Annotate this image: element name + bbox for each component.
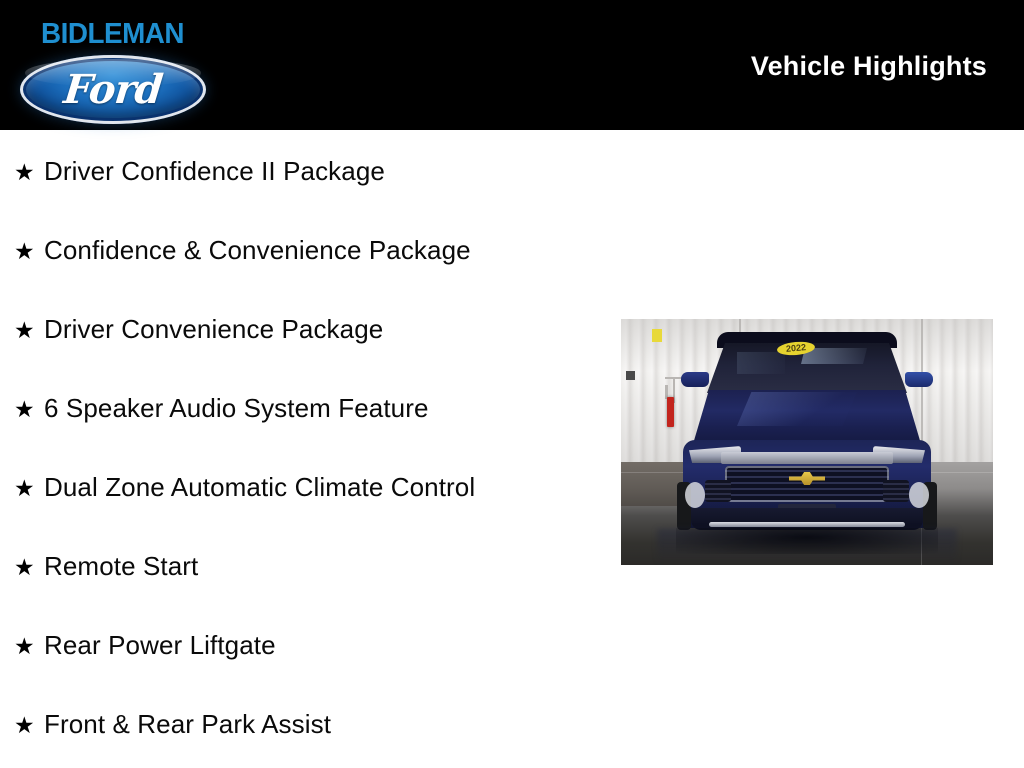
list-item: ★ Driver Convenience Package — [0, 316, 600, 395]
list-item: ★ Dual Zone Automatic Climate Control — [0, 474, 600, 553]
highlight-label: Driver Convenience Package — [44, 316, 383, 342]
side-mirror-right — [905, 372, 933, 387]
fog-lamp-right — [909, 482, 929, 508]
star-bullet-icon: ★ — [14, 161, 44, 184]
fog-lamp-left — [685, 482, 705, 508]
bumper-vent-left — [705, 480, 731, 502]
side-mirror-left — [681, 372, 709, 387]
fire-extinguisher-icon — [667, 397, 674, 427]
ford-wordmark: Ford — [62, 66, 165, 113]
list-item: ★ Front & Rear Park Assist — [0, 711, 600, 768]
star-bullet-icon: ★ — [14, 635, 44, 658]
list-item: ★ Driver Confidence II Package — [0, 158, 600, 237]
list-item: ★ Remote Start — [0, 553, 600, 632]
star-bullet-icon: ★ — [14, 319, 44, 342]
ford-oval-logo-icon: Ford — [20, 55, 206, 124]
star-bullet-icon: ★ — [14, 714, 44, 737]
vehicle-photo: 2022 — [621, 319, 993, 565]
star-bullet-icon: ★ — [14, 240, 44, 263]
list-item: ★ 6 Speaker Audio System Feature — [0, 395, 600, 474]
star-bullet-icon: ★ — [14, 398, 44, 421]
highlight-label: 6 Speaker Audio System Feature — [44, 395, 429, 421]
chrome-skid-plate — [709, 522, 905, 527]
list-item: ★ Rear Power Liftgate — [0, 632, 600, 711]
bumper-vent-right — [883, 480, 909, 502]
header-bar: BIDLEMAN Ford Vehicle Highlights — [0, 0, 1024, 130]
dealer-name-text: BIDLEMAN — [41, 20, 184, 49]
windshield-reflection — [737, 352, 785, 374]
star-bullet-icon: ★ — [14, 556, 44, 579]
highlight-label: Remote Start — [44, 553, 198, 579]
list-item: ★ Confidence & Convenience Package — [0, 237, 600, 316]
upper-grille — [721, 452, 893, 464]
vehicle-highlights-list: ★ Driver Confidence II Package ★ Confide… — [0, 130, 600, 768]
floor-reflection — [657, 529, 957, 565]
dealer-logo: BIDLEMAN Ford — [13, 20, 213, 124]
chevrolet-equinox-front: 2022 — [681, 332, 933, 547]
vehicle-highlights-slide: BIDLEMAN Ford Vehicle Highlights ★ Drive… — [0, 0, 1024, 768]
highlight-label: Dual Zone Automatic Climate Control — [44, 474, 475, 500]
highlight-label: Front & Rear Park Assist — [44, 711, 331, 737]
highlight-label: Rear Power Liftgate — [44, 632, 276, 658]
wall-sign — [652, 329, 662, 342]
highlight-label: Confidence & Convenience Package — [44, 237, 471, 263]
page-title: Vehicle Highlights — [751, 51, 987, 82]
highlight-label: Driver Confidence II Package — [44, 158, 385, 184]
hood-reflection — [737, 392, 857, 426]
wall-box — [626, 371, 635, 380]
star-bullet-icon: ★ — [14, 477, 44, 500]
